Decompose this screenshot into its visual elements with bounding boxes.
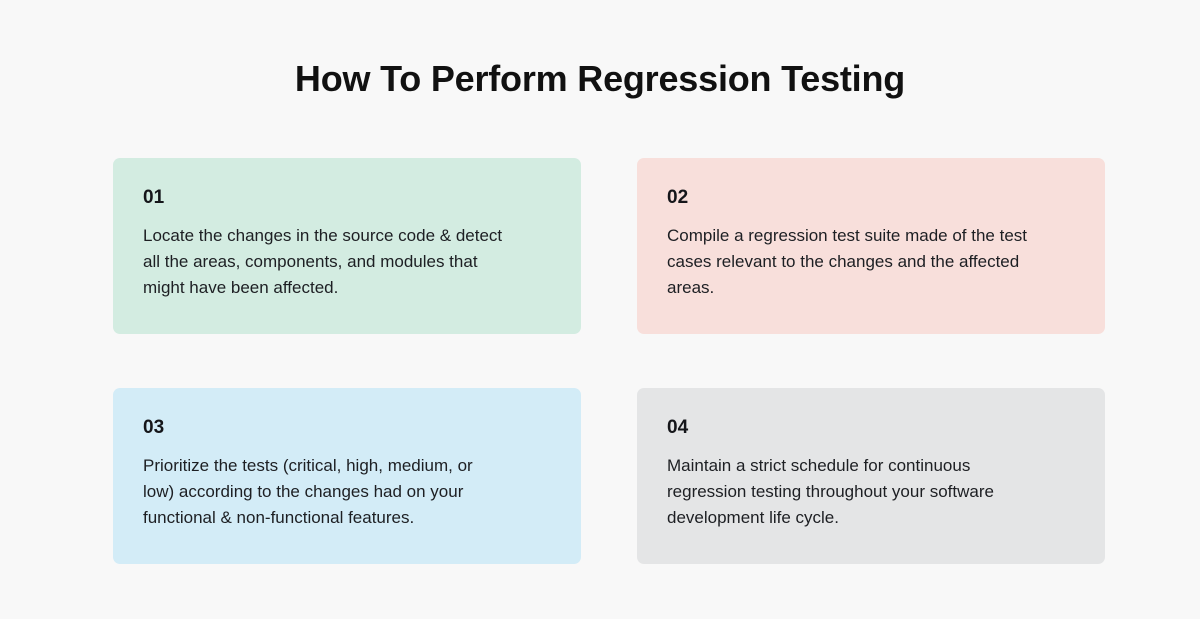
step-description-01: Locate the changes in the source code & … bbox=[143, 223, 503, 301]
step-card-04: 04 Maintain a strict schedule for contin… bbox=[637, 388, 1105, 564]
steps-card-grid: 01 Locate the changes in the source code… bbox=[113, 158, 1105, 564]
step-card-02: 02 Compile a regression test suite made … bbox=[637, 158, 1105, 334]
step-number-02: 02 bbox=[667, 186, 1075, 210]
step-description-03: Prioritize the tests (critical, high, me… bbox=[143, 453, 503, 531]
infographic-root: How To Perform Regression Testing 01 Loc… bbox=[0, 0, 1200, 619]
step-description-04: Maintain a strict schedule for continuou… bbox=[667, 453, 1049, 531]
step-number-01: 01 bbox=[143, 186, 551, 210]
step-number-04: 04 bbox=[667, 416, 1075, 440]
step-card-03: 03 Prioritize the tests (critical, high,… bbox=[113, 388, 581, 564]
step-card-01: 01 Locate the changes in the source code… bbox=[113, 158, 581, 334]
page-title: How To Perform Regression Testing bbox=[0, 56, 1200, 102]
step-description-02: Compile a regression test suite made of … bbox=[667, 223, 1049, 301]
step-number-03: 03 bbox=[143, 416, 551, 440]
